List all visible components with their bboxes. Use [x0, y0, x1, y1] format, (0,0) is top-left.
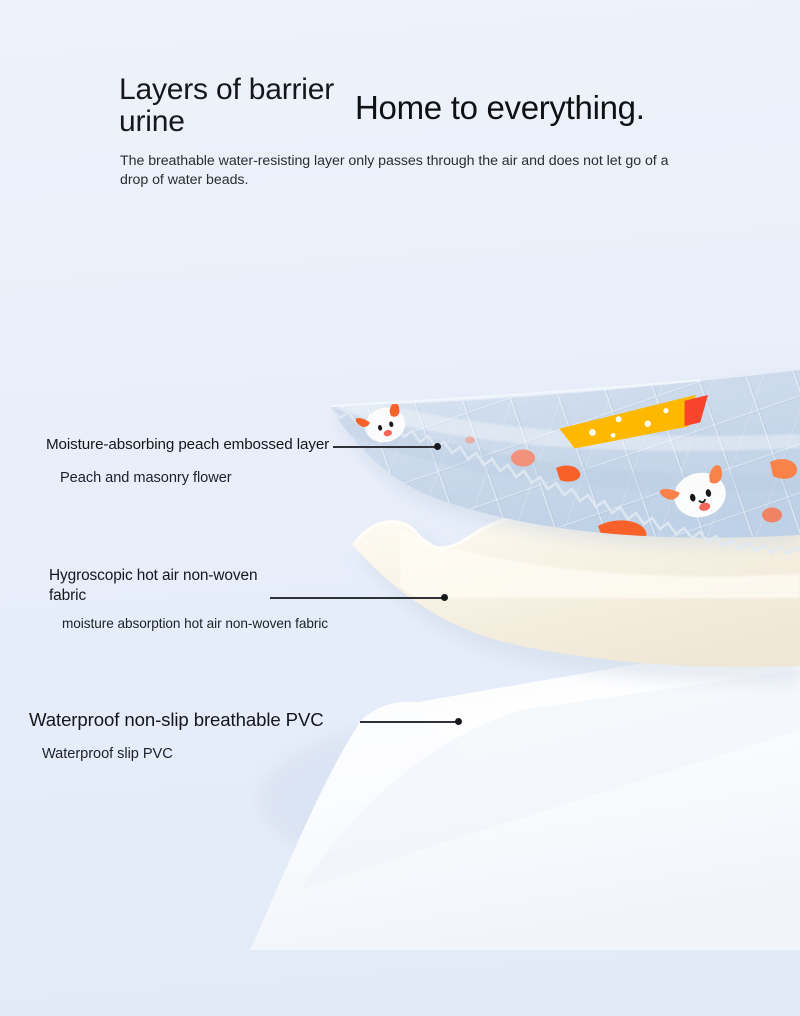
- callout-title: Hygroscopic hot air non-woven fabric: [49, 566, 264, 605]
- leader-dot-1: [434, 443, 441, 450]
- leader-line-3: [360, 721, 458, 723]
- subtitle-paragraph: The breathable water-resisting layer onl…: [120, 152, 676, 190]
- headline-secondary: Home to everything.: [355, 90, 645, 126]
- callout-waterproof-non-slip-breathable-pvc: Waterproof non-slip breathable PVC Water…: [29, 708, 324, 764]
- callout-title: Moisture-absorbing peach embossed layer: [46, 435, 329, 455]
- leader-line-2: [270, 597, 444, 599]
- headline-primary: Layers of barrier urine: [119, 74, 364, 138]
- callout-subtitle: Waterproof slip PVC: [42, 744, 324, 764]
- product-infographic-page: Layers of barrier urine Home to everythi…: [0, 0, 800, 1016]
- callout-moisture-absorbing-peach-embossed-layer: Moisture-absorbing peach embossed layer …: [46, 435, 329, 488]
- callout-subtitle: moisture absorption hot air non-woven fa…: [62, 614, 328, 633]
- callout-hygroscopic-hot-air-non-woven-fabric: Hygroscopic hot air non-woven fabric moi…: [49, 566, 328, 633]
- callout-subtitle: Peach and masonry flower: [60, 468, 329, 488]
- callout-title: Waterproof non-slip breathable PVC: [29, 708, 324, 732]
- leader-line-1: [333, 446, 437, 448]
- leader-dot-2: [441, 594, 448, 601]
- product-layer-illustration: [0, 330, 800, 950]
- white-pvc-base-layer: [250, 636, 800, 950]
- leader-dot-3: [455, 718, 462, 725]
